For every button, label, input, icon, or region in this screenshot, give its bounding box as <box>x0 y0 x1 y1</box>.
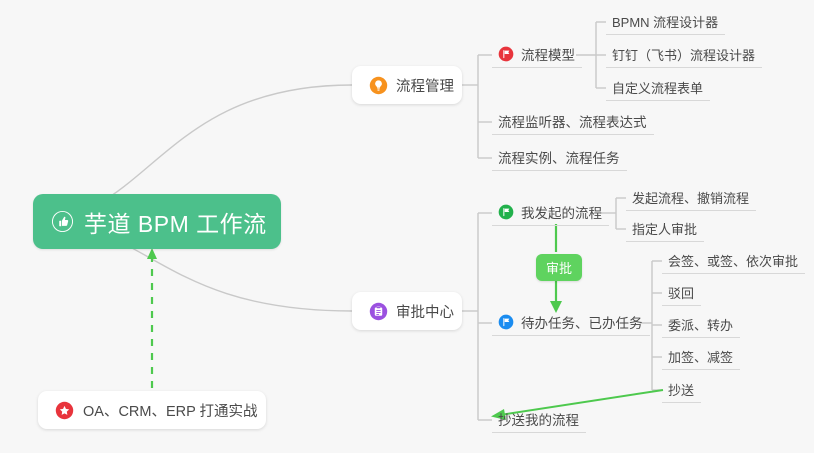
node-label: 钉钉（飞书）流程设计器 <box>612 45 755 64</box>
callout-node-integration[interactable]: OA、CRM、ERP 打通实战 <box>38 391 266 429</box>
root-label: 芋道 BPM 工作流 <box>84 205 267 239</box>
node-label: 流程模型 <box>521 44 575 64</box>
star-icon <box>55 401 74 420</box>
node-label: 抄送 <box>668 380 694 399</box>
node-start-cancel-process[interactable]: 发起流程、撤销流程 <box>626 184 756 211</box>
node-cc[interactable]: 抄送 <box>662 376 701 403</box>
node-reject[interactable]: 驳回 <box>662 279 701 306</box>
node-process-instance[interactable]: 流程实例、流程任务 <box>492 144 627 171</box>
branch-node-process-management[interactable]: 流程管理 <box>352 66 462 104</box>
branch-node-approval-center[interactable]: 审批中心 <box>352 292 462 330</box>
node-label: 驳回 <box>668 283 694 302</box>
node-label: 抄送我的流程 <box>498 409 579 429</box>
approval-tag[interactable]: 审批 <box>536 254 582 281</box>
node-countersign[interactable]: 会签、或签、依次审批 <box>662 247 805 274</box>
node-custom-form[interactable]: 自定义流程表单 <box>606 74 710 101</box>
node-label: 流程监听器、流程表达式 <box>498 111 647 131</box>
node-label: 发起流程、撤销流程 <box>632 188 749 207</box>
flag-icon-blue <box>498 314 514 330</box>
node-label: 待办任务、已办任务 <box>521 312 643 332</box>
node-delegate-transfer[interactable]: 委派、转办 <box>662 311 740 338</box>
branch-label: 流程管理 <box>396 75 454 96</box>
node-label: 我发起的流程 <box>521 202 602 222</box>
node-my-initiated-process[interactable]: 我发起的流程 <box>492 199 609 226</box>
node-process-model[interactable]: 流程模型 <box>492 41 582 68</box>
dashed-arrow-callout <box>147 248 157 388</box>
branch-label: 审批中心 <box>396 301 454 322</box>
node-bpmn-designer[interactable]: BPMN 流程设计器 <box>606 8 725 35</box>
node-label: 流程实例、流程任务 <box>498 147 620 167</box>
node-cc-my-process[interactable]: 抄送我的流程 <box>492 406 586 433</box>
node-label: 委派、转办 <box>668 315 733 334</box>
mindmap-canvas: 芋道 BPM 工作流 流程管理 流程模型 流程监听器、流程表达式 流程实例、流程 <box>0 0 814 453</box>
node-add-remove-sign[interactable]: 加签、减签 <box>662 343 740 370</box>
node-process-listener[interactable]: 流程监听器、流程表达式 <box>492 108 654 135</box>
node-label: 加签、减签 <box>668 347 733 366</box>
flag-icon-red <box>498 46 514 62</box>
flag-icon-green <box>498 204 514 220</box>
node-assignee-approval[interactable]: 指定人审批 <box>626 215 704 242</box>
callout-label: OA、CRM、ERP 打通实战 <box>83 400 258 421</box>
node-label: 会签、或签、依次审批 <box>668 251 798 270</box>
thumbs-up-icon <box>51 210 74 233</box>
root-node[interactable]: 芋道 BPM 工作流 <box>33 194 281 249</box>
clipboard-icon <box>369 302 388 321</box>
node-dingtalk-designer[interactable]: 钉钉（飞书）流程设计器 <box>606 41 762 68</box>
node-label: 自定义流程表单 <box>612 78 703 97</box>
approval-tag-label: 审批 <box>546 258 572 277</box>
node-label: BPMN 流程设计器 <box>612 12 718 31</box>
node-todo-done-tasks[interactable]: 待办任务、已办任务 <box>492 309 650 336</box>
node-label: 指定人审批 <box>632 219 697 238</box>
lightbulb-icon <box>369 76 388 95</box>
